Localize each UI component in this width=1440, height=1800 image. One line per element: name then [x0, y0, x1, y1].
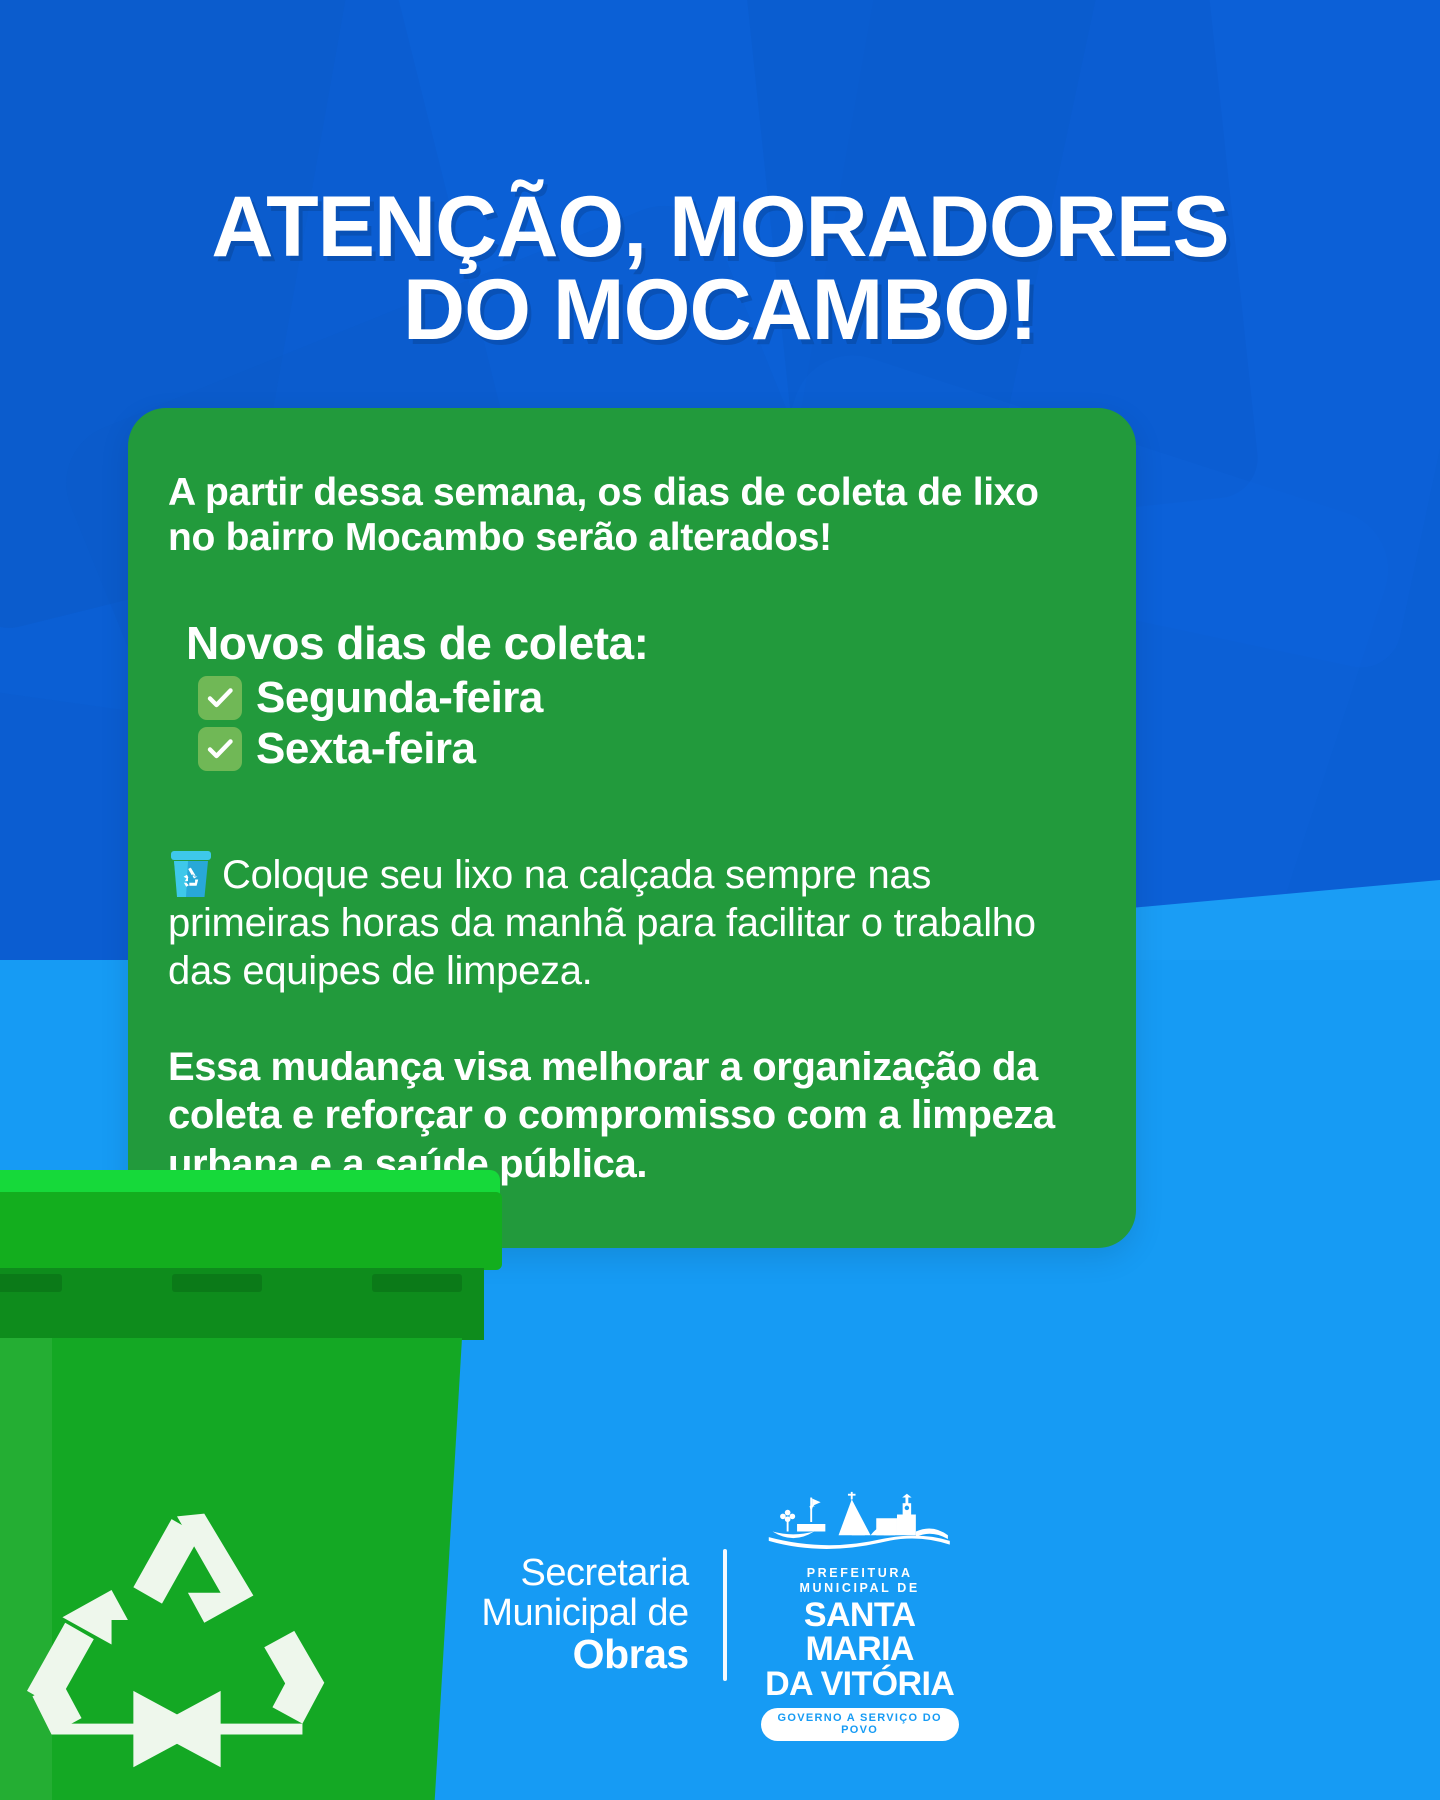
secretaria-line-1: Secretaria [481, 1554, 688, 1594]
days-title: Novos dias de coleta: [186, 618, 1096, 669]
checkbox-checked-icon [198, 727, 242, 771]
bin-neck [0, 1268, 484, 1340]
secretaria-line-3: Obras [481, 1633, 688, 1676]
list-item: Sexta-feira [198, 724, 1096, 773]
checkbox-checked-icon [198, 676, 242, 720]
headline-line-1: ATENÇÃO, MORADORES [211, 179, 1228, 275]
announcement-card: A partir dessa semana, os dias de coleta… [128, 408, 1136, 1248]
city-hall-seal: PREFEITURA MUNICIPAL DE SANTA MARIA DA V… [761, 1490, 959, 1741]
lead-paragraph: A partir dessa semana, os dias de coleta… [168, 470, 1096, 560]
seal-line-1: PREFEITURA MUNICIPAL DE [761, 1566, 959, 1596]
bin-ridge [372, 1274, 462, 1292]
page-title: ATENÇÃO, MORADORES DO MOCAMBO! [0, 186, 1440, 353]
footer: Secretaria Municipal de Obras [0, 1500, 1440, 1730]
recycle-bin-icon [168, 850, 214, 898]
headline-line-2: DO MOCAMBO! [40, 269, 1400, 352]
bin-ridge [0, 1274, 62, 1292]
bin-ridge [172, 1274, 262, 1292]
instruction-text: Coloque seu lixo na calçada sempre nas p… [168, 853, 1036, 993]
list-item: Segunda-feira [198, 673, 1096, 722]
instruction-paragraph: Coloque seu lixo na calçada sempre nas p… [168, 850, 1096, 995]
seal-line-3: DA VITÓRIA [761, 1667, 959, 1702]
bin-lid [0, 1192, 502, 1270]
day-label: Segunda-feira [256, 673, 543, 722]
closing-paragraph: Essa mudança visa melhorar a organização… [168, 1043, 1096, 1189]
day-label: Sexta-feira [256, 724, 476, 773]
secretaria-logo: Secretaria Municipal de Obras [481, 1554, 688, 1676]
seal-line-2: SANTA MARIA [761, 1598, 959, 1667]
seal-tagline: GOVERNO A SERVIÇO DO POVO [761, 1708, 959, 1741]
secretaria-line-2: Municipal de [481, 1594, 688, 1634]
city-skyline-icon [765, 1490, 954, 1556]
collection-days-list: Segunda-feira Sexta-feira [168, 673, 1096, 774]
poster-canvas: ATENÇÃO, MORADORES DO MOCAMBO! A partir … [0, 0, 1440, 1800]
footer-divider [723, 1549, 727, 1681]
